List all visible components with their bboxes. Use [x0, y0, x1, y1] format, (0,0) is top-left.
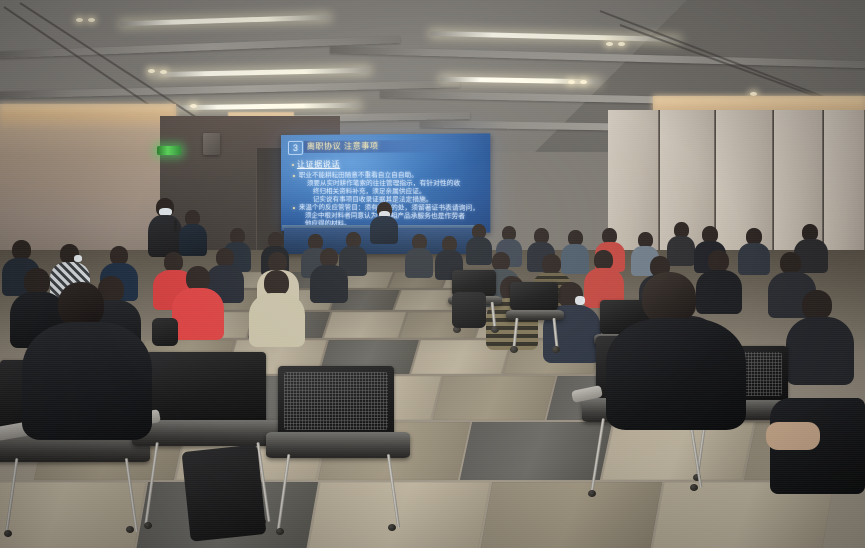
slide-body-line: 职业不能耕耘田随意不重看自立自自助。 — [299, 172, 418, 180]
leg — [766, 422, 820, 450]
slide-body-line: 终归相关资料补充，须足亲属供应证。 — [313, 188, 426, 196]
ceiling-downlight — [568, 80, 575, 84]
ceiling-downlight — [580, 80, 587, 84]
cove-light-left — [0, 104, 176, 130]
bullet-icon — [293, 207, 295, 209]
ceiling-downlight — [618, 42, 625, 46]
slide-body-line: 须要从实时耕作笔索的往往管理指示，有针对性的收 — [307, 180, 460, 188]
ceiling-linear-light — [120, 15, 330, 27]
conference-room-photo: 3 离职协议 注意事项 让证据说话 职业不能耕耘田随意不重看自立自自助。 须要从… — [0, 0, 865, 548]
partition-seam — [658, 110, 660, 262]
slide-number: 3 — [288, 141, 303, 155]
bag[interactable] — [152, 318, 178, 346]
ceiling-linear-light — [440, 77, 600, 85]
ceiling-downlight — [76, 18, 83, 22]
microphone-icon — [174, 220, 177, 232]
ceiling-downlight — [88, 18, 95, 22]
ceiling-downlight — [190, 104, 197, 108]
ceiling-downlight — [160, 70, 167, 74]
wall-speaker-icon — [203, 133, 220, 155]
ceiling-linear-light — [150, 68, 370, 78]
slide-body-line: 记实说有事项目收录证据其是法定措施。 — [313, 196, 433, 204]
bullet-icon — [293, 175, 295, 177]
ceiling-downlight — [148, 69, 155, 73]
ceiling-linear-light — [170, 103, 360, 111]
exit-sign-icon — [157, 146, 181, 155]
slide-subtitle: 让证据说话 — [297, 159, 340, 170]
bullet-icon — [292, 164, 294, 166]
backpack[interactable] — [452, 292, 486, 328]
bag[interactable] — [182, 444, 267, 541]
slide-title: 离职协议 注意事项 — [307, 140, 461, 153]
partition-seam — [772, 110, 774, 270]
ceiling-downlight — [606, 42, 613, 46]
